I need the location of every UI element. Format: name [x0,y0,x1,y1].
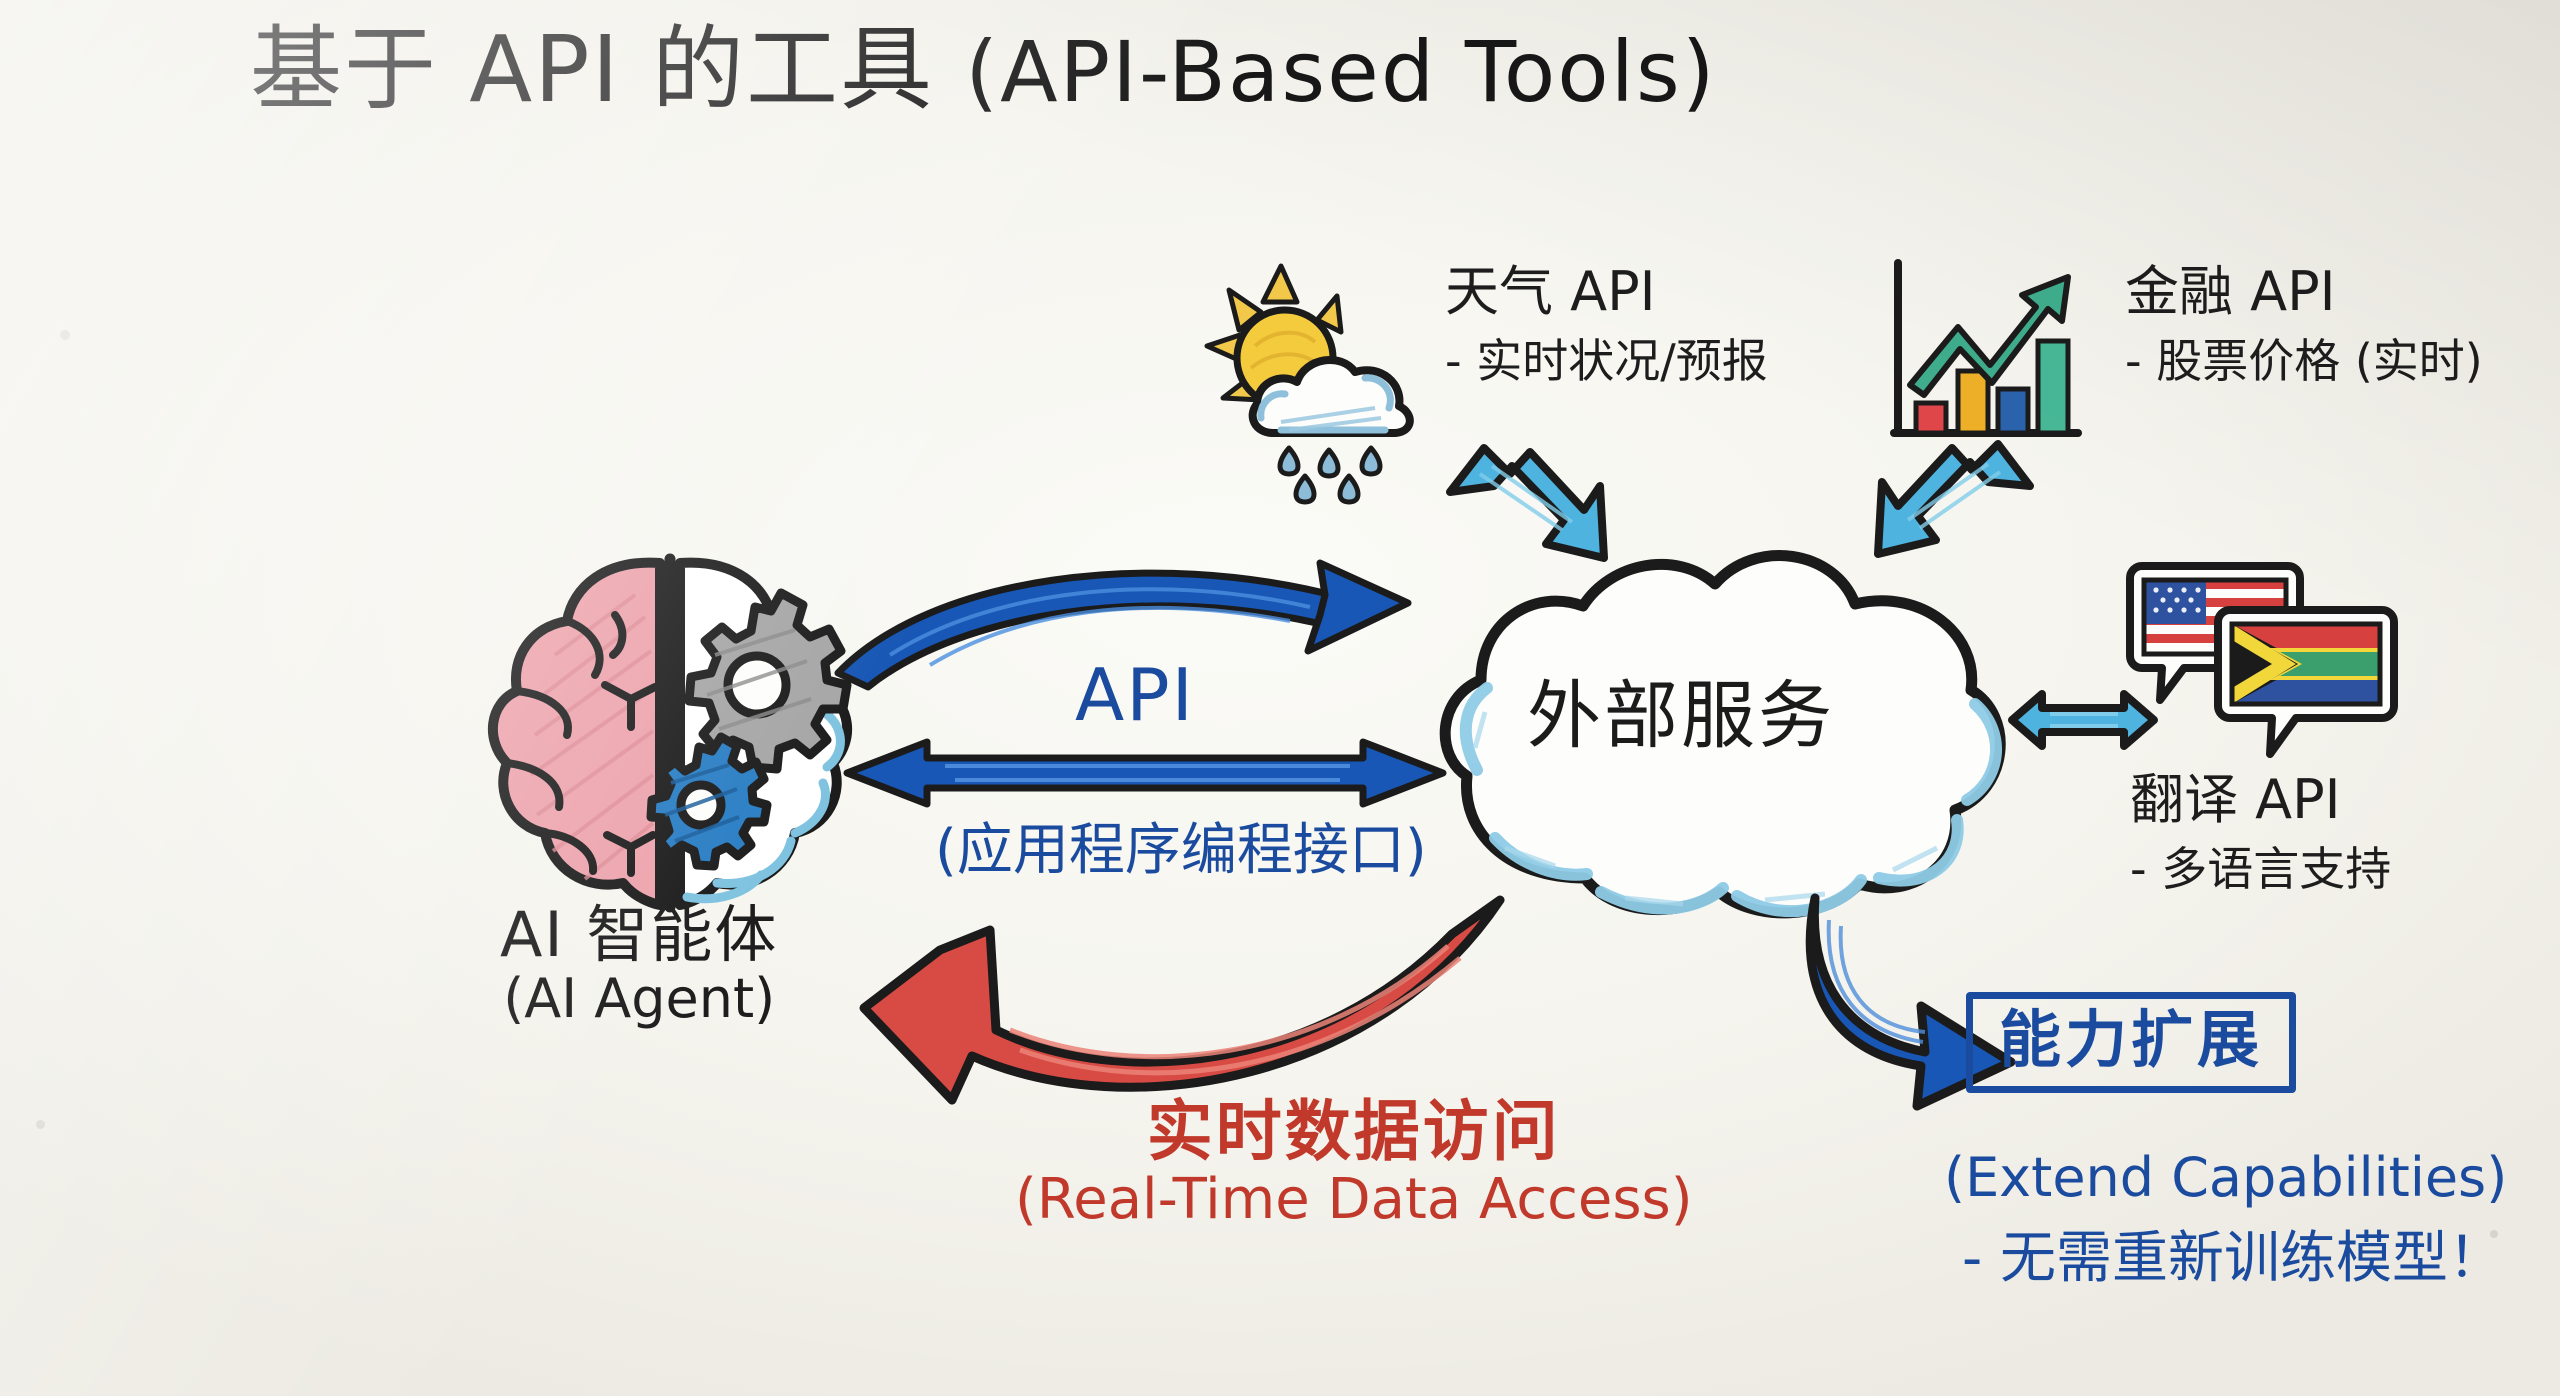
finance-api-detail: - 股票价格 (实时) [2125,336,2483,388]
board-smudge [36,1120,45,1129]
agent-label-cn: AI 智能体 [500,900,778,969]
page-title: 基于 API 的工具 (API-Based Tools) [250,18,1717,121]
extend-capabilities-en: (Extend Capabilities) [1944,1148,2507,1208]
title-chinese: 基于 API 的工具 [250,16,934,123]
realtime-data-cn: 实时数据访问 [1015,1095,1693,1169]
extend-capabilities-note: - 无需重新训练模型！ [1962,1228,2504,1291]
agent-label-block: AI 智能体 (AI Agent) [500,900,778,1030]
api-sublabel: (应用程序编程接口) [935,820,1427,883]
extend-capabilities-box: 能力扩展 [1966,992,2296,1093]
speech-bubble-flags-icon [2120,548,2410,778]
connector-cloud-finance [1860,438,2050,618]
cloud-label: 外部服务 [1527,675,1835,758]
finance-api-label-block: 金融 API - 股票价格 (实时) [2125,262,2483,388]
board-smudge [60,330,70,340]
realtime-data-label-block: 实时数据访问 (Real-Time Data Access) [1015,1095,1693,1232]
translate-api-label-block: 翻译 API - 多语言支持 [2130,770,2391,896]
weather-api-title: 天气 API [1445,262,1768,322]
finance-api-title: 金融 API [2125,262,2483,322]
extend-capabilities-cn: 能力扩展 [1999,1003,2263,1076]
sun-cloud-rain-icon [1185,258,1425,508]
api-label: API [1075,655,1195,736]
bar-chart-growth-icon [1872,255,2087,445]
connector-cloud-translate [2008,676,2158,764]
whiteboard-diagram: 基于 API 的工具 (API-Based Tools) [0,0,2560,1396]
agent-label-en: (AI Agent) [500,969,778,1029]
title-english: (API-Based Tools) [965,23,1716,121]
realtime-data-arrow [800,890,1620,1110]
realtime-data-en: (Real-Time Data Access) [1015,1169,1693,1232]
weather-api-label-block: 天气 API - 实时状况/预报 [1445,262,1768,388]
translate-api-detail: - 多语言支持 [2130,844,2391,896]
translate-api-title: 翻译 API [2130,770,2391,830]
connector-cloud-weather [1432,440,1622,615]
weather-api-detail: - 实时状况/预报 [1445,336,1768,388]
